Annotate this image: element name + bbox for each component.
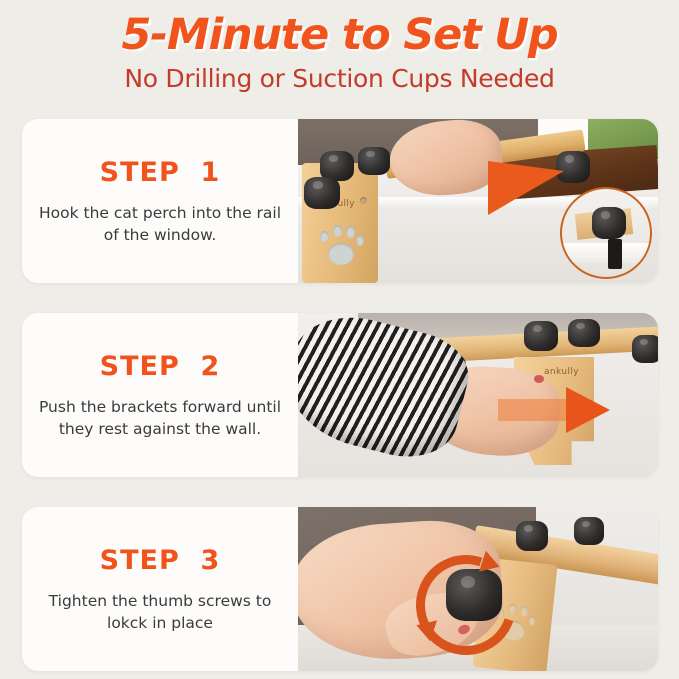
step-2-description: Push the brackets forward until they res… (36, 396, 284, 440)
paw-cutout (318, 223, 366, 267)
thumb-screw-knob (524, 321, 558, 351)
step-3-label: STEP 3 (100, 545, 221, 576)
direction-arrow-head (566, 387, 610, 433)
page-title: 5-Minute to Set Up (0, 13, 679, 58)
thumb-screw-knob (568, 319, 600, 347)
inset-thumb-screw-knob (592, 207, 626, 239)
fingernail (534, 375, 544, 383)
inset-window-sill (562, 243, 650, 263)
step-3-text-block: STEP 3 Tighten the thumb screws to lokck… (22, 507, 298, 671)
step-3-description: Tighten the thumb screws to lokck in pla… (36, 590, 284, 634)
step-1-description: Hook the cat perch into the rail of the … (36, 202, 284, 246)
header: 5-Minute to Set Up No Drilling or Suctio… (0, 0, 679, 93)
step-1-photo: ankully (298, 119, 658, 283)
step-card-3: STEP 3 Tighten the thumb screws to lokck… (22, 507, 658, 671)
page-subtitle: No Drilling or Suction Cups Needed (0, 65, 679, 93)
step-1-text-block: STEP 1 Hook the cat perch into the rail … (22, 119, 298, 283)
step-card-1: STEP 1 Hook the cat perch into the rail … (22, 119, 658, 283)
step-2-label: STEP 2 (100, 351, 221, 382)
thumb-screw-knob (574, 517, 604, 545)
thumb-screw-knob (632, 335, 658, 363)
magnifier-connector-wedge (488, 161, 564, 215)
thumb-screw-knob (516, 521, 548, 551)
thumb-screw-knob (304, 177, 340, 209)
step-card-2: STEP 2 Push the brackets forward until t… (22, 313, 658, 477)
step-2-text-block: STEP 2 Push the brackets forward until t… (22, 313, 298, 477)
step-3-photo (298, 507, 658, 671)
screw-dot (360, 197, 367, 204)
step-1-label: STEP 1 (100, 157, 221, 188)
thumb-screw-knob (358, 147, 390, 175)
magnifier-inset (560, 187, 652, 279)
brand-logo-text: ankully (544, 367, 579, 377)
step-2-photo: ankully (298, 313, 658, 477)
inset-bracket-hook (608, 239, 622, 269)
